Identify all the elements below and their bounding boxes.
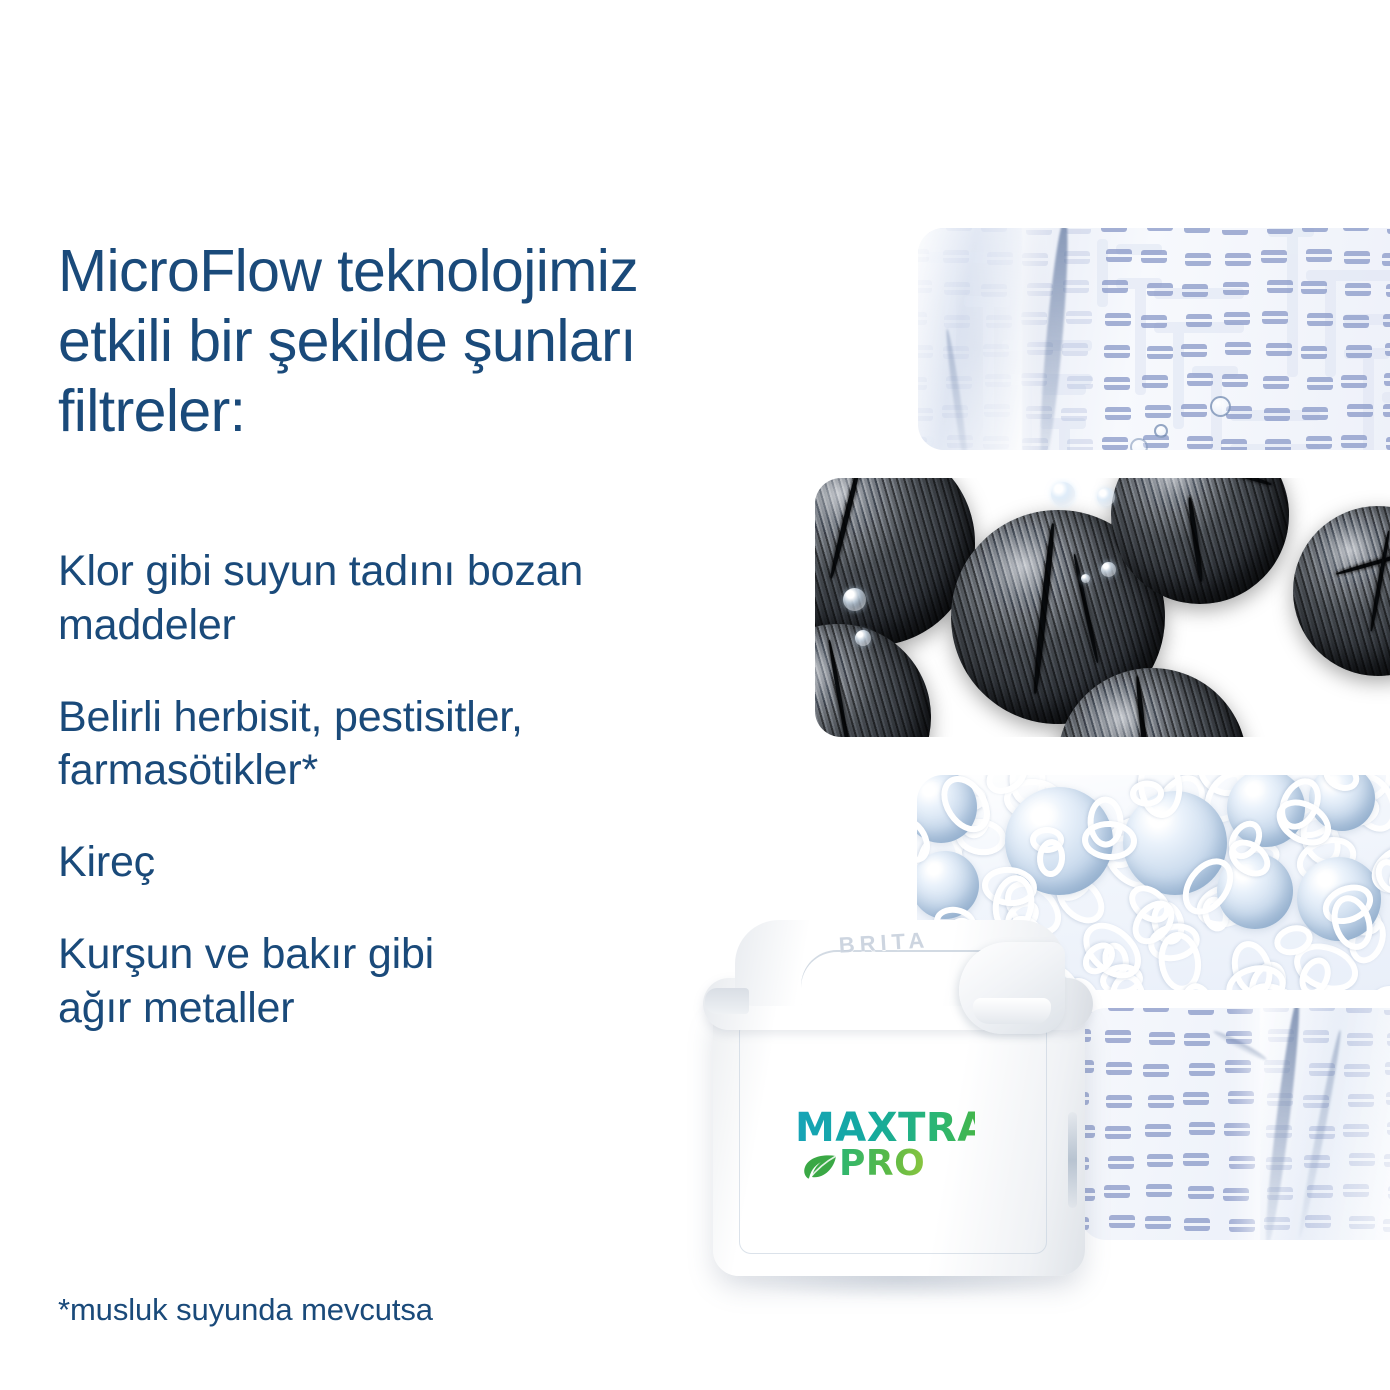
bubble bbox=[1154, 424, 1168, 438]
page-title: MicroFlow teknolojimiz etkili bir şekild… bbox=[58, 236, 858, 447]
footnote: *musluk suyunda mevcutsa bbox=[58, 1292, 433, 1328]
panel-mesh-top bbox=[918, 228, 1390, 450]
list-item: Klor gibi suyun tadını bozan maddeler bbox=[58, 545, 818, 653]
headline-block: MicroFlow teknolojimiz etkili bir şekild… bbox=[58, 236, 858, 447]
leaf-icon bbox=[803, 1154, 837, 1180]
maxtra-pro-logo: MAXTRA PRO bbox=[795, 1108, 975, 1184]
water-bubble bbox=[855, 630, 871, 646]
water-bubble bbox=[1097, 488, 1115, 506]
water-sheet bbox=[918, 228, 1022, 450]
water-bubble bbox=[1101, 562, 1116, 577]
bubble bbox=[1210, 396, 1231, 417]
water-bubble bbox=[1051, 482, 1075, 506]
list-item: Kurşun ve bakır gibi ağır metaller bbox=[58, 928, 818, 1036]
list-item: Belirli herbisit, pestisitler, farmasöti… bbox=[58, 691, 818, 799]
water-bubble bbox=[1081, 574, 1090, 583]
logo-pro-text: PRO bbox=[839, 1146, 925, 1182]
list-item: Kireç bbox=[58, 836, 818, 890]
panel-charcoal bbox=[815, 478, 1390, 737]
logo-maxtra-text: MAXTRA bbox=[795, 1108, 975, 1148]
cartridge-scoop-lip bbox=[973, 998, 1051, 1024]
marketing-image: BRITA MAXTRA PRO MicroFlow teknolojimiz … bbox=[0, 0, 1390, 1390]
benefit-list: Klor gibi suyun tadını bozan maddeler Be… bbox=[58, 545, 818, 1035]
water-bubble bbox=[843, 588, 866, 611]
bubble bbox=[1130, 438, 1148, 450]
cartridge-rib bbox=[1068, 1112, 1077, 1208]
carbon-sphere bbox=[1293, 506, 1390, 676]
carbon-sphere bbox=[815, 624, 931, 737]
panel-mesh-bottom bbox=[1080, 1008, 1390, 1240]
